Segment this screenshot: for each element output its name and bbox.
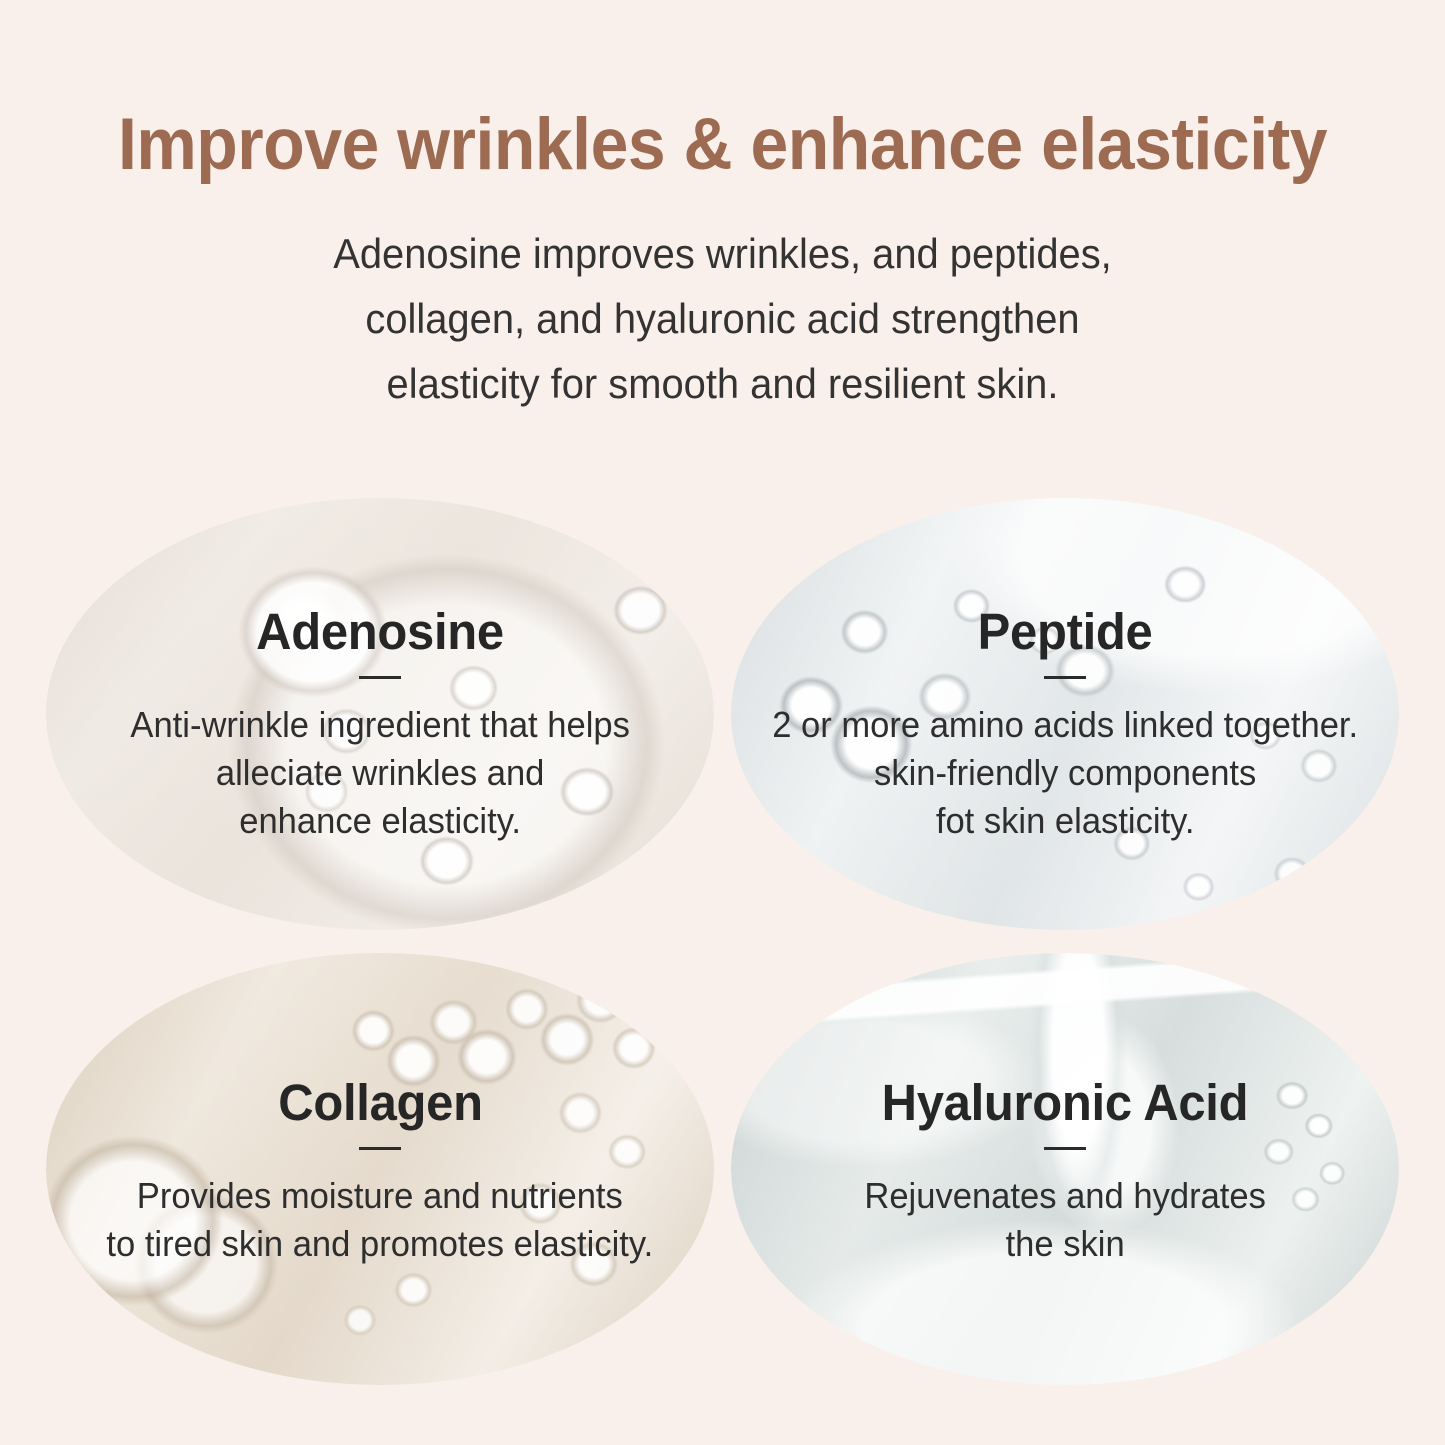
page-subtitle: Adenosine improves wrinkles, and peptide… (36, 181, 1409, 416)
peptide-description: 2 or more amino acids linked together. s… (772, 701, 1358, 845)
adenosine-desc-line-2: alleciate wrinkles and (130, 749, 629, 797)
page-headline: Improve wrinkles & enhance elasticity (51, 0, 1395, 181)
adenosine-desc-line-3: enhance elasticity. (130, 797, 629, 845)
peptide-desc-line-2: skin-friendly components (772, 749, 1358, 797)
hyaluronic-acid-divider (1044, 1147, 1086, 1150)
collagen-divider (359, 1147, 401, 1150)
ingredient-card-hyaluronic-acid: Hyaluronic Acid Rejuvenates and hydrates… (731, 953, 1399, 1385)
collagen-title: Collagen (278, 1077, 482, 1128)
adenosine-divider (359, 676, 401, 679)
ingredient-card-adenosine: Adenosine Anti-wrinkle ingredient that h… (46, 498, 714, 930)
subtitle-line-3: elasticity for smooth and resilient skin… (36, 351, 1409, 416)
adenosine-desc-line-1: Anti-wrinkle ingredient that helps (130, 701, 629, 749)
collagen-desc-line-2: to tired skin and promotes elasticity. (107, 1220, 654, 1268)
hyaluronic-acid-title: Hyaluronic Acid (882, 1077, 1249, 1128)
ingredient-card-collagen: Collagen Provides moisture and nutrients… (46, 953, 714, 1385)
peptide-desc-line-3: fot skin elasticity. (772, 797, 1358, 845)
hyaluronic-acid-description: Rejuvenates and hydrates the skin (864, 1172, 1266, 1268)
adenosine-title: Adenosine (256, 606, 504, 657)
peptide-title: Peptide (978, 606, 1153, 657)
hyaluronic-acid-desc-line-1: Rejuvenates and hydrates (864, 1172, 1266, 1220)
adenosine-description: Anti-wrinkle ingredient that helps allec… (130, 701, 629, 845)
collagen-desc-line-1: Provides moisture and nutrients (107, 1172, 654, 1220)
peptide-divider (1044, 676, 1086, 679)
ingredient-card-peptide: Peptide 2 or more amino acids linked tog… (731, 498, 1399, 930)
collagen-description: Provides moisture and nutrients to tired… (107, 1172, 654, 1268)
peptide-desc-line-1: 2 or more amino acids linked together. (772, 701, 1358, 749)
hyaluronic-acid-desc-line-2: the skin (864, 1220, 1266, 1268)
ingredient-card-grid: Adenosine Anti-wrinkle ingredient that h… (0, 498, 1445, 1398)
page-header: Improve wrinkles & enhance elasticity Ad… (0, 0, 1445, 416)
subtitle-line-1: Adenosine improves wrinkles, and peptide… (36, 221, 1409, 286)
subtitle-line-2: collagen, and hyaluronic acid strengthen (36, 286, 1409, 351)
